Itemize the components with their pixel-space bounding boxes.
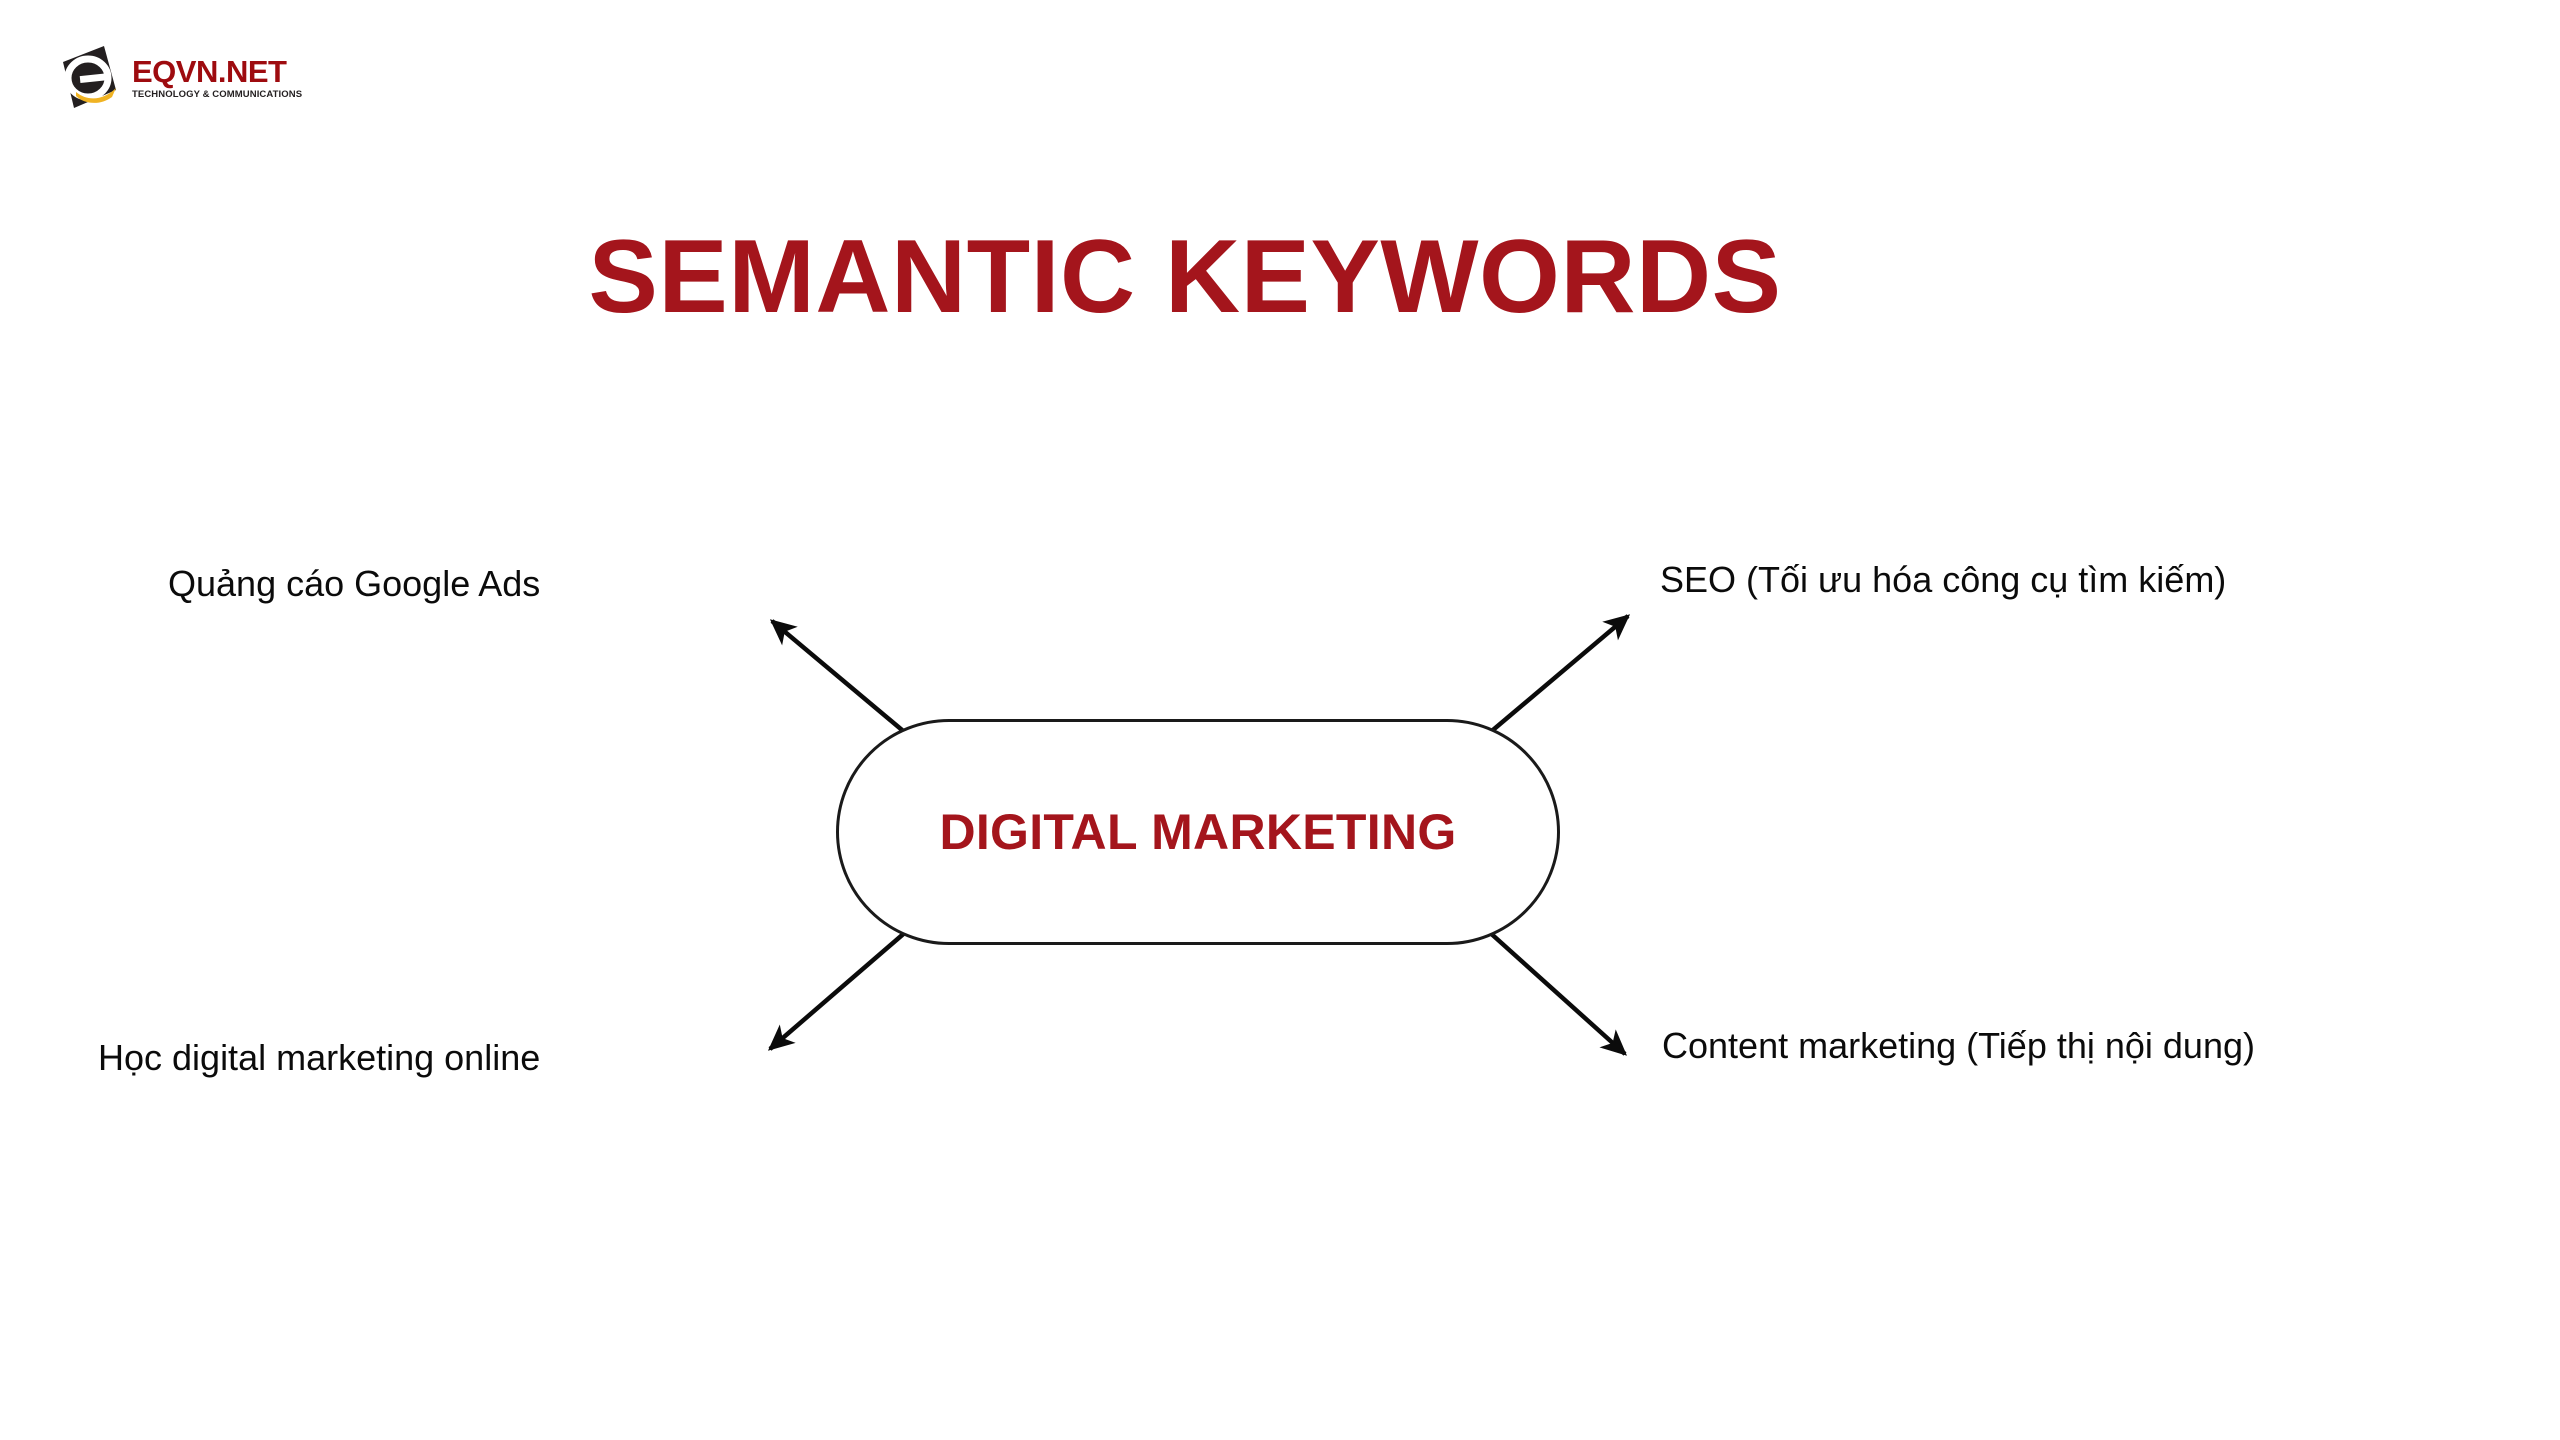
arrow-to-google-ads bbox=[772, 621, 908, 735]
center-node-label: DIGITAL MARKETING bbox=[939, 803, 1456, 861]
arrow-to-hoc-online bbox=[770, 930, 908, 1049]
slide-canvas: EQVN.NET TECHNOLOGY & COMMUNICATIONS SEM… bbox=[0, 0, 2560, 1440]
center-node-digital-marketing[interactable]: DIGITAL MARKETING bbox=[836, 719, 1560, 945]
arrow-to-content-marketing bbox=[1487, 930, 1625, 1054]
semantic-keywords-diagram: DIGITAL MARKETING Quảng cáo Google Ads S… bbox=[0, 0, 2560, 1440]
branch-label-content-marketing[interactable]: Content marketing (Tiếp thị nội dung) bbox=[1662, 1023, 2255, 1068]
branch-label-hoc-digital-marketing-online[interactable]: Học digital marketing online bbox=[98, 1035, 540, 1080]
branch-label-google-ads[interactable]: Quảng cáo Google Ads bbox=[168, 561, 540, 606]
branch-label-seo[interactable]: SEO (Tối ưu hóa công cụ tìm kiếm) bbox=[1660, 557, 2226, 602]
arrow-to-seo bbox=[1487, 616, 1628, 735]
